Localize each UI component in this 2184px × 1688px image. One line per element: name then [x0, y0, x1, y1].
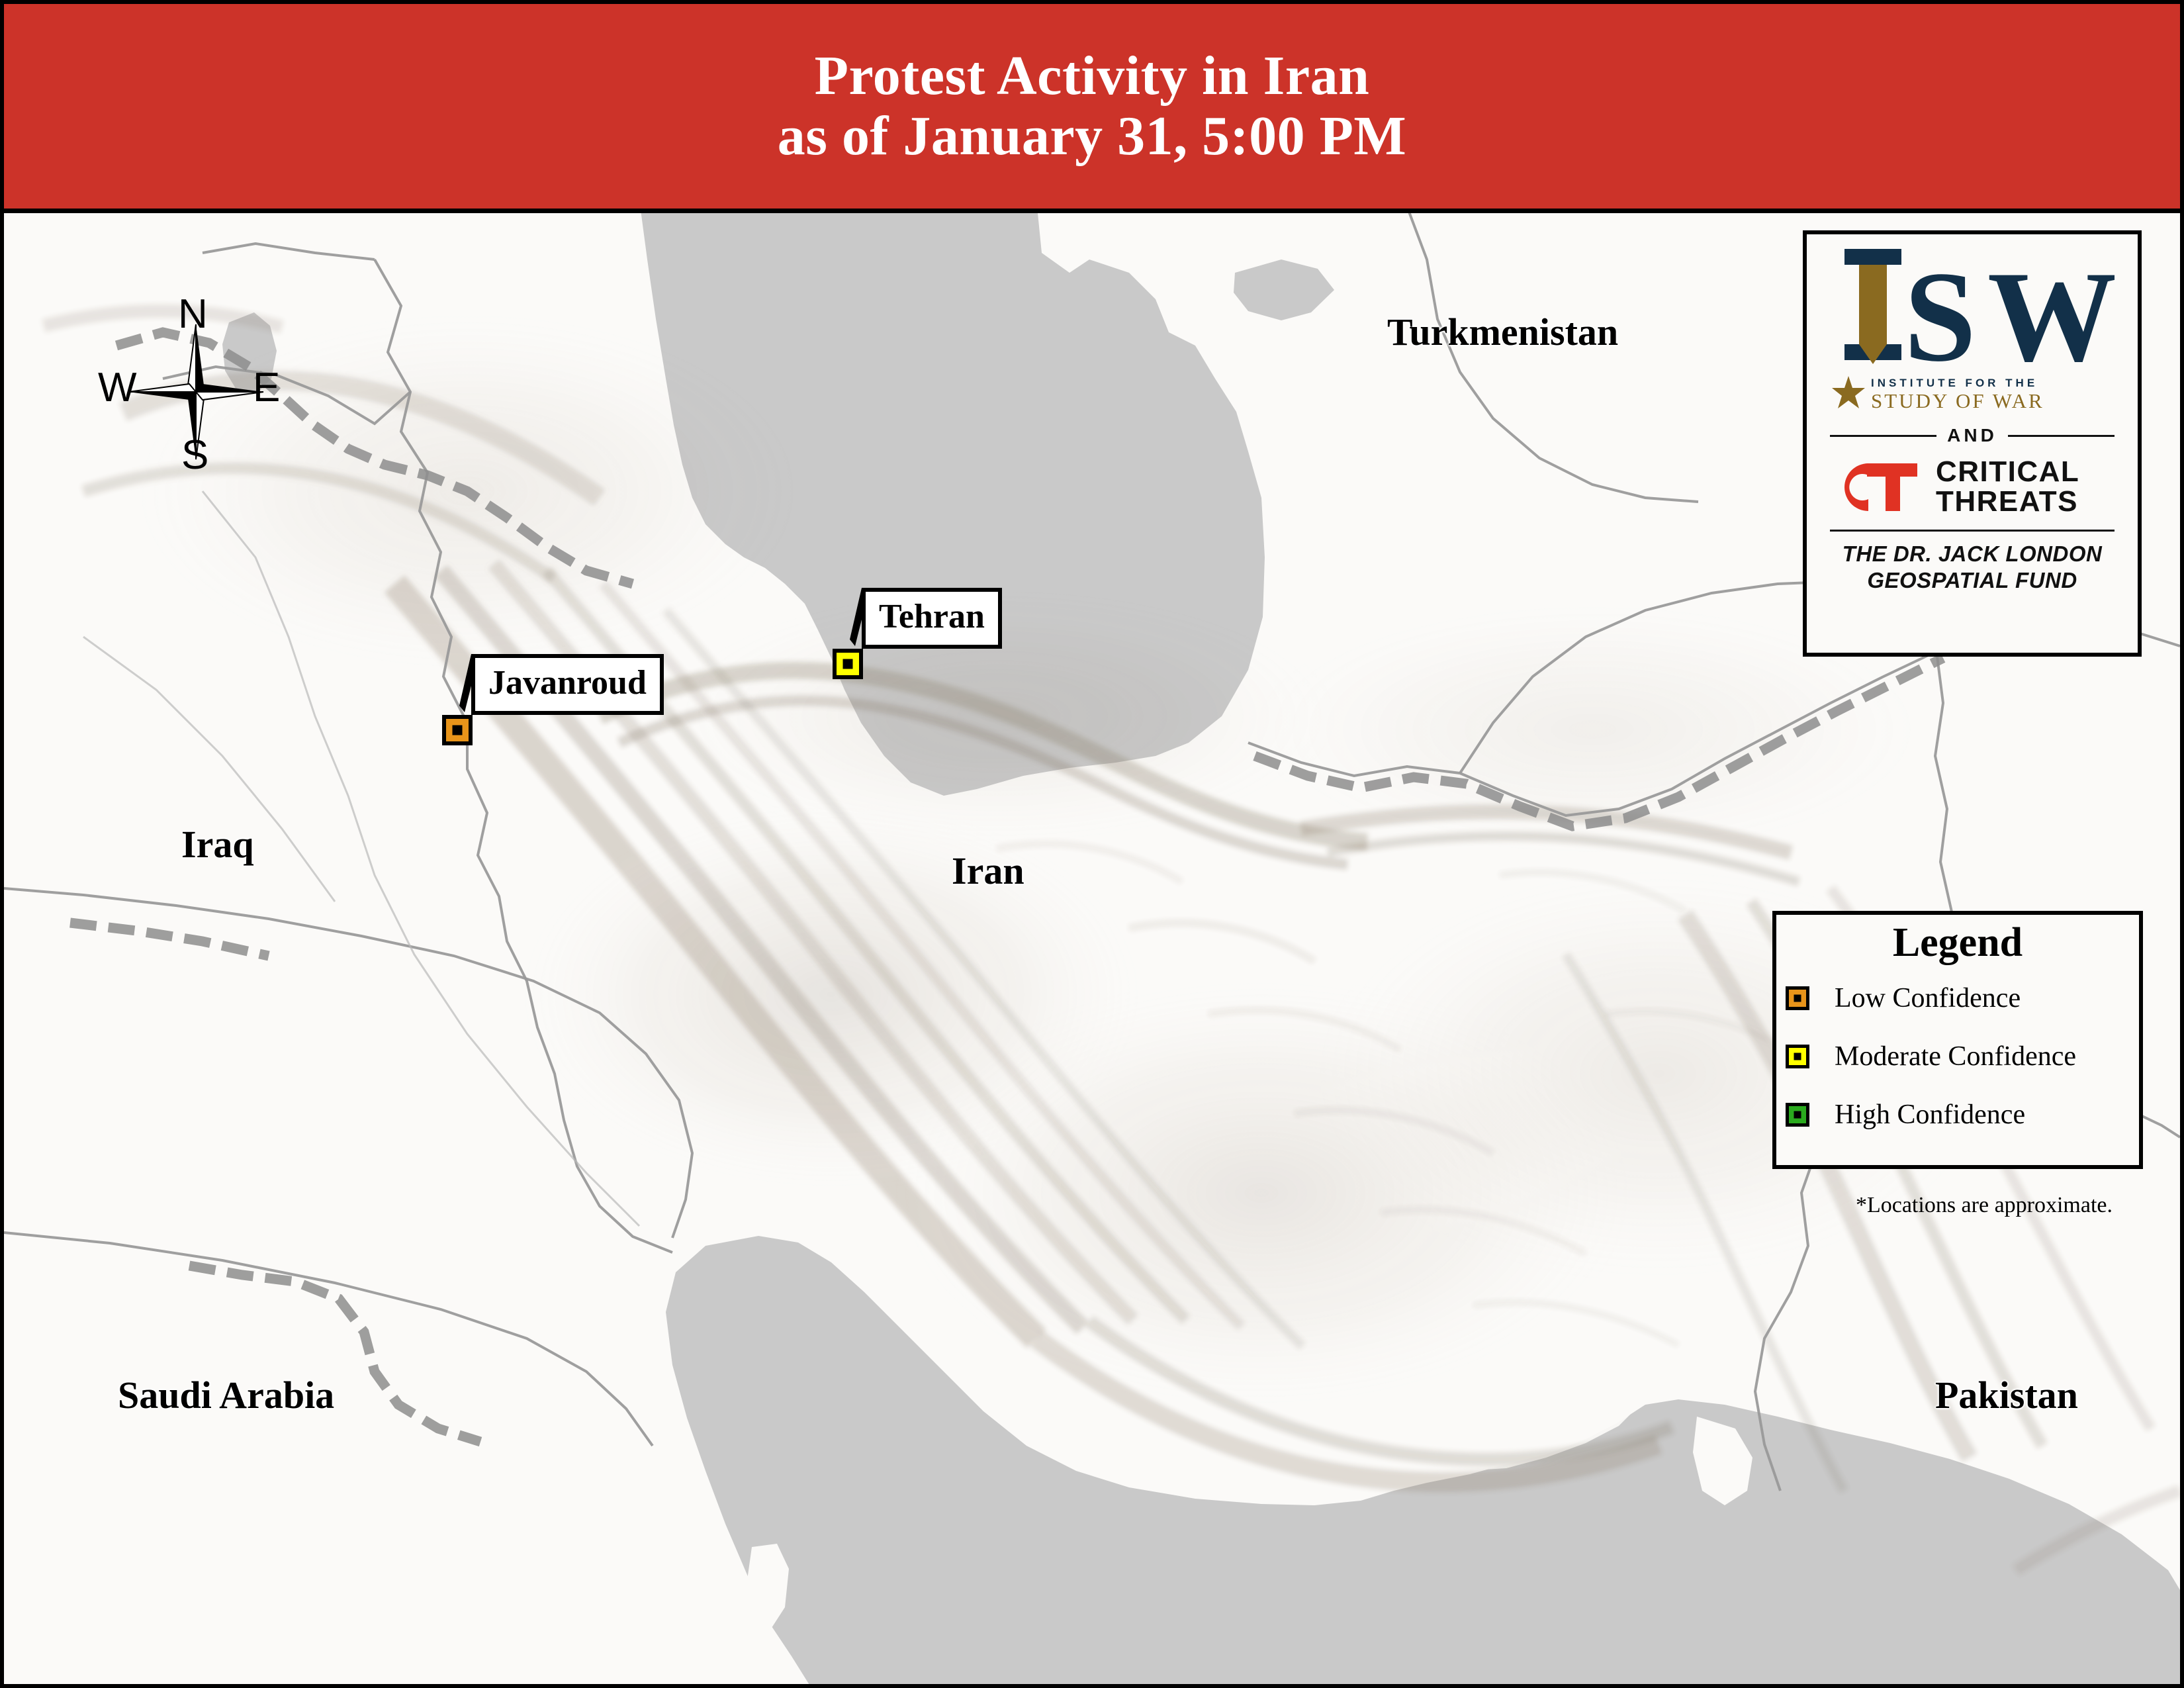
city-label-javanroud[interactable]: Javanroud — [471, 654, 664, 715]
country-label-turkmenistan: Turkmenistan — [1387, 310, 1618, 354]
ct-line2: THREATS — [1936, 487, 2079, 517]
country-label-iraq: Iraq — [181, 822, 254, 867]
city-label-tehran[interactable]: Tehran — [862, 588, 1002, 649]
ct-line1: CRITICAL — [1936, 457, 2079, 487]
compass-west-label: W — [98, 367, 137, 408]
legend-label-moderate-confidence: Moderate Confidence — [1835, 1041, 2076, 1072]
compass-rose: N E S W — [103, 299, 289, 485]
svg-text:W: W — [1987, 245, 2115, 376]
legend-row-low: Low Confidence — [1776, 969, 2139, 1027]
compass-north-label: N — [178, 294, 208, 335]
map-page: Protest Activity in Iran as of January 3… — [0, 0, 2184, 1688]
legend-label-low-confidence: Low Confidence — [1835, 982, 2021, 1014]
critical-threats-row: CRITICAL THREATS — [1830, 457, 2115, 518]
compass-east-label: E — [253, 367, 280, 408]
compass-south-label: S — [181, 435, 208, 476]
legend-swatch-high-confidence — [1786, 1103, 1809, 1127]
and-divider: AND — [1830, 425, 2115, 446]
and-label: AND — [1947, 425, 1997, 446]
fund-line2: GEOSPATIAL FUND — [1830, 567, 2115, 594]
legend-title: Legend — [1776, 920, 2139, 965]
isw-wordmark-icon: S W — [1830, 244, 2115, 376]
svg-text:INSTITUTE FOR THE: INSTITUTE FOR THE — [1871, 377, 2038, 389]
swatch-center-dot — [1794, 1053, 1801, 1060]
country-label-saudi-arabia: Saudi Arabia — [118, 1373, 334, 1417]
critical-threats-wordmark: CRITICAL THREATS — [1936, 457, 2079, 517]
legend-swatch-low-confidence — [1786, 986, 1809, 1010]
legend-swatch-moderate-confidence — [1786, 1045, 1809, 1068]
city-marker-javanroud[interactable] — [442, 715, 473, 745]
geospatial-fund-credit: THE DR. JACK LONDON GEOSPATIAL FUND — [1830, 541, 2115, 594]
swatch-center-dot — [1794, 1111, 1801, 1119]
divider-rule-right — [2008, 435, 2115, 437]
city-marker-tehran[interactable] — [833, 649, 863, 679]
isw-tagline-icon: INSTITUTE FOR THE STUDY OF WAR — [1830, 372, 2115, 416]
legend-box: Legend Low Confidence Moderate Confidenc… — [1772, 911, 2143, 1169]
marker-center-dot — [453, 726, 463, 735]
legend-row-moderate: Moderate Confidence — [1776, 1027, 2139, 1086]
fund-line1: THE DR. JACK LONDON — [1830, 541, 2115, 567]
divider-rule-left — [1830, 435, 1936, 437]
country-label-iran: Iran — [952, 849, 1024, 893]
swatch-center-dot — [1794, 995, 1801, 1002]
svg-text:STUDY OF WAR: STUDY OF WAR — [1871, 389, 2044, 412]
legend-approximate-note: *Locations are approximate. — [1812, 1193, 2156, 1218]
legend-row-high: High Confidence — [1776, 1086, 2139, 1144]
svg-text:S: S — [1904, 245, 1976, 376]
fund-divider-rule — [1830, 530, 2115, 532]
marker-center-dot — [843, 659, 853, 669]
isw-ct-logo-box: S W INSTITUTE FOR THE STUDY OF WAR AND — [1803, 230, 2142, 657]
page-title-line2: as of January 31, 5:00 PM — [778, 107, 1406, 167]
page-title-line1: Protest Activity in Iran — [815, 46, 1370, 107]
legend-label-high-confidence: High Confidence — [1835, 1099, 2025, 1131]
header-banner: Protest Activity in Iran as of January 3… — [4, 4, 2180, 213]
ct-monogram-icon — [1830, 457, 1927, 518]
map-canvas[interactable]: Turkmenistan Iraq Iran Saudi Arabia Paki… — [4, 213, 2180, 1688]
country-label-pakistan: Pakistan — [1935, 1373, 2078, 1417]
